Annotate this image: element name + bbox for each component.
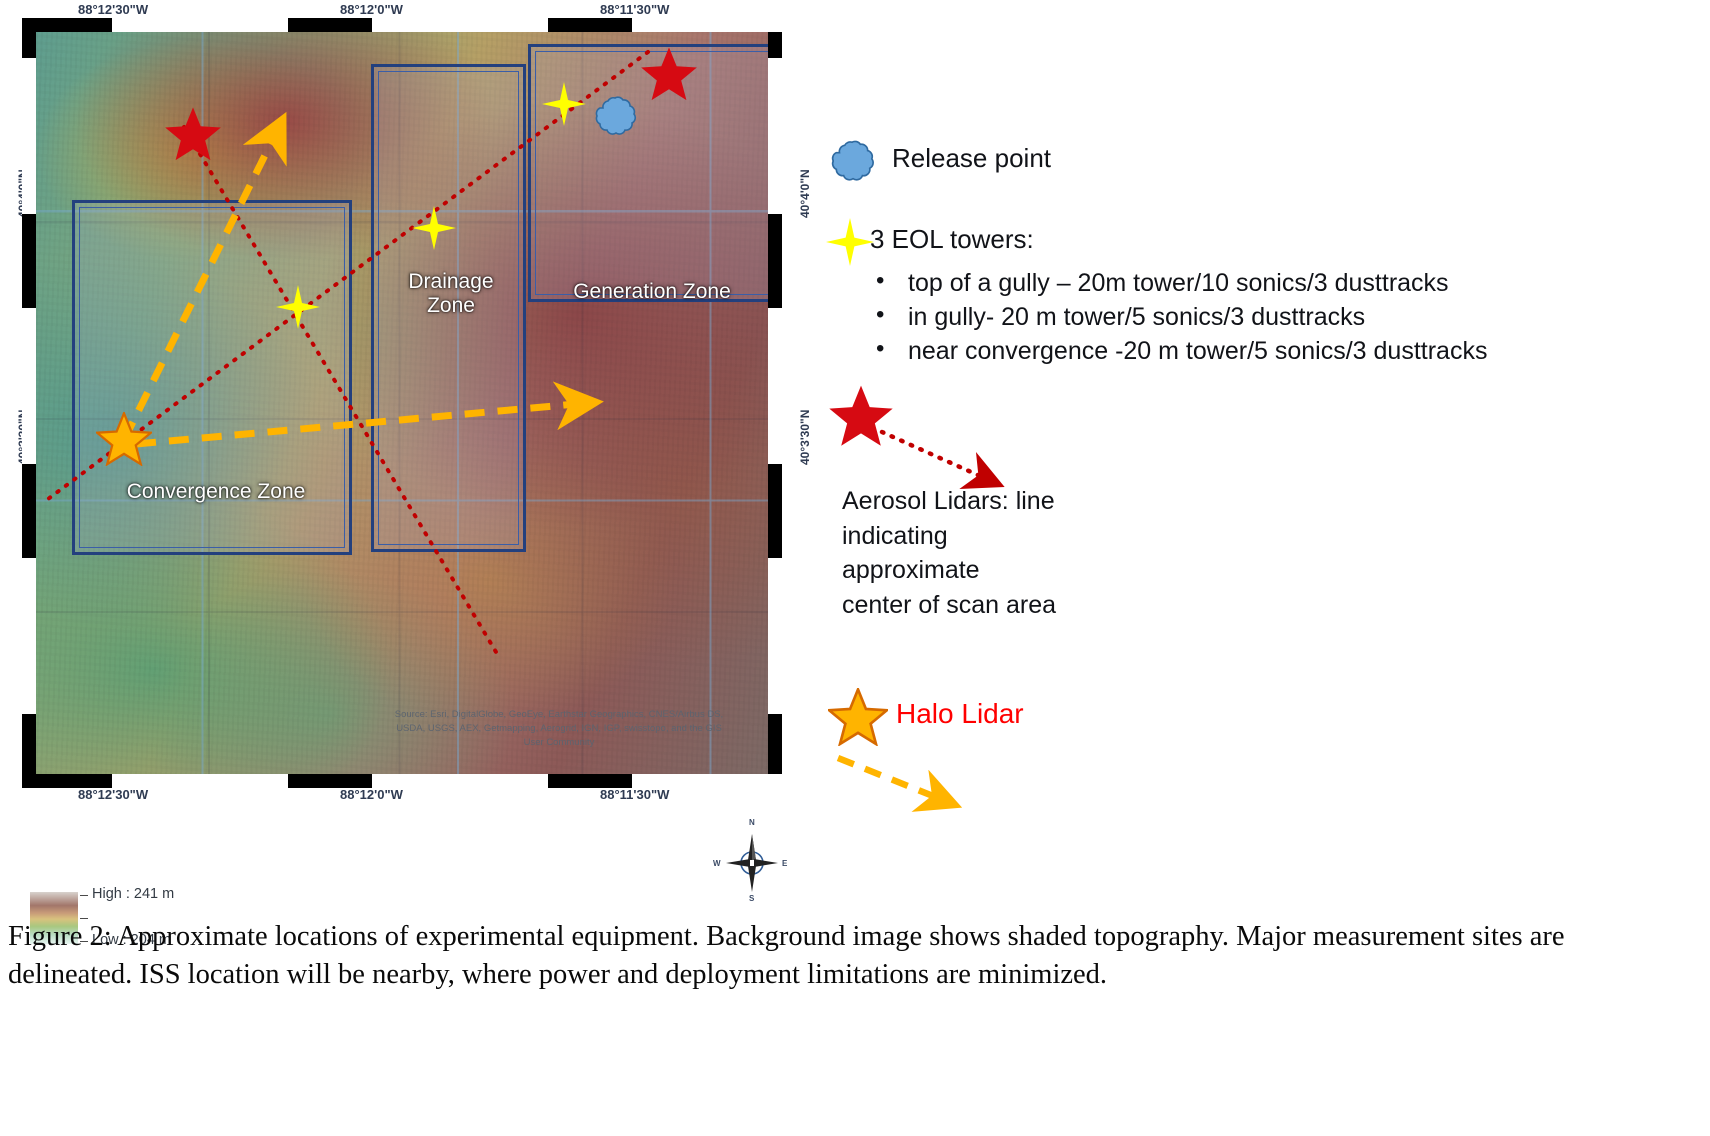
legend-label-aerosol-line-4: center of scan area (842, 588, 1242, 623)
compass-label-n: N (749, 818, 755, 827)
legend-bullet-eol-3: near convergence -20 m tower/5 sonics/3 … (862, 334, 1692, 368)
neatline-tick (632, 18, 782, 32)
eol-tower-marker-in-gully[interactable] (412, 206, 456, 250)
lon-label-top-3: 88°11'30"W (600, 2, 669, 17)
neatline-tick (768, 558, 782, 714)
compass-rose: N E S W (712, 818, 792, 904)
neatline-tick (632, 774, 782, 788)
elevation-high-label: High : 241 m (92, 886, 174, 902)
aerosol-lidar-star-northwest[interactable] (164, 106, 222, 162)
legend-label-aerosol-line-2: indicating (842, 519, 1242, 554)
legend-label-release-point: Release point (892, 143, 1051, 174)
neatline-tick (112, 774, 288, 788)
halo-lidar-marker[interactable] (96, 412, 152, 466)
map-attribution: Source: Esri, DigitalGlobe, GeoEye, Eart… (394, 708, 724, 749)
compass-label-e: E (782, 859, 787, 868)
neatline-tick (768, 308, 782, 464)
lon-label-bottom-1: 88°12'30"W (78, 787, 148, 802)
four-point-star-icon (412, 206, 456, 250)
neatline-tick (112, 18, 288, 32)
map-frame: Convergence Zone Drainage Zone Generatio… (22, 18, 782, 788)
legend-label-aerosol-line-1: Aerosol Lidars: line (842, 484, 1242, 519)
neatline-tick (768, 58, 782, 214)
four-point-star-icon (826, 218, 874, 266)
neatline-tick (22, 558, 36, 714)
map-overlay-vectors (36, 32, 768, 774)
halo-lidar-arrow-icon (834, 752, 974, 812)
red-star-icon (640, 46, 698, 102)
neatline-tick (372, 18, 548, 32)
cloud-blob-icon (592, 94, 638, 138)
map-figure: 88°12'30"W 88°12'0"W 88°11'30"W 88°12'30… (0, 0, 800, 810)
four-point-star-icon (542, 82, 586, 126)
red-star-icon (164, 106, 222, 162)
neatline-tick (22, 308, 36, 464)
lon-label-bottom-2: 88°12'0"W (340, 787, 403, 802)
aerosol-lidar-star-northeast[interactable] (640, 46, 698, 102)
neatline-tick (372, 774, 548, 788)
legend-panel: Release point 3 EOL towers: top of a gul… (806, 0, 1710, 900)
lon-label-top-1: 88°12'30"W (78, 2, 148, 17)
eol-tower-marker-near-convergence[interactable] (276, 285, 320, 329)
four-point-star-icon (276, 285, 320, 329)
north-arrow-icon (712, 818, 792, 904)
compass-label-s: S (749, 894, 754, 903)
legend-bullet-eol-1: top of a gully – 20m tower/10 sonics/3 d… (862, 266, 1692, 300)
legend-label-eol-towers-title: 3 EOL towers: (870, 224, 1034, 255)
halo-arrow-east (136, 404, 576, 444)
eol-tower-marker-gully-top[interactable] (542, 82, 586, 126)
orange-star-icon (828, 688, 888, 746)
legend-label-aerosol-line-3: approximate (842, 553, 1242, 588)
figure-caption: Figure 2: Approximate locations of exper… (8, 918, 1568, 993)
compass-label-w: W (713, 859, 721, 868)
lidar-scan-arrow-icon (878, 424, 1018, 490)
lon-label-top-2: 88°12'0"W (340, 2, 403, 17)
orange-star-icon (96, 412, 152, 466)
cloud-blob-icon (828, 138, 876, 184)
lon-label-bottom-3: 88°11'30"W (600, 787, 669, 802)
neatline-tick (22, 58, 36, 214)
release-point-marker[interactable] (592, 94, 638, 138)
legend-label-halo-lidar: Halo Lidar (896, 698, 1024, 730)
map-canvas: Convergence Zone Drainage Zone Generatio… (36, 32, 768, 774)
halo-arrow-north (124, 137, 274, 440)
legend-bullet-eol-2: in gully- 20 m tower/5 sonics/3 dusttrac… (862, 300, 1692, 334)
